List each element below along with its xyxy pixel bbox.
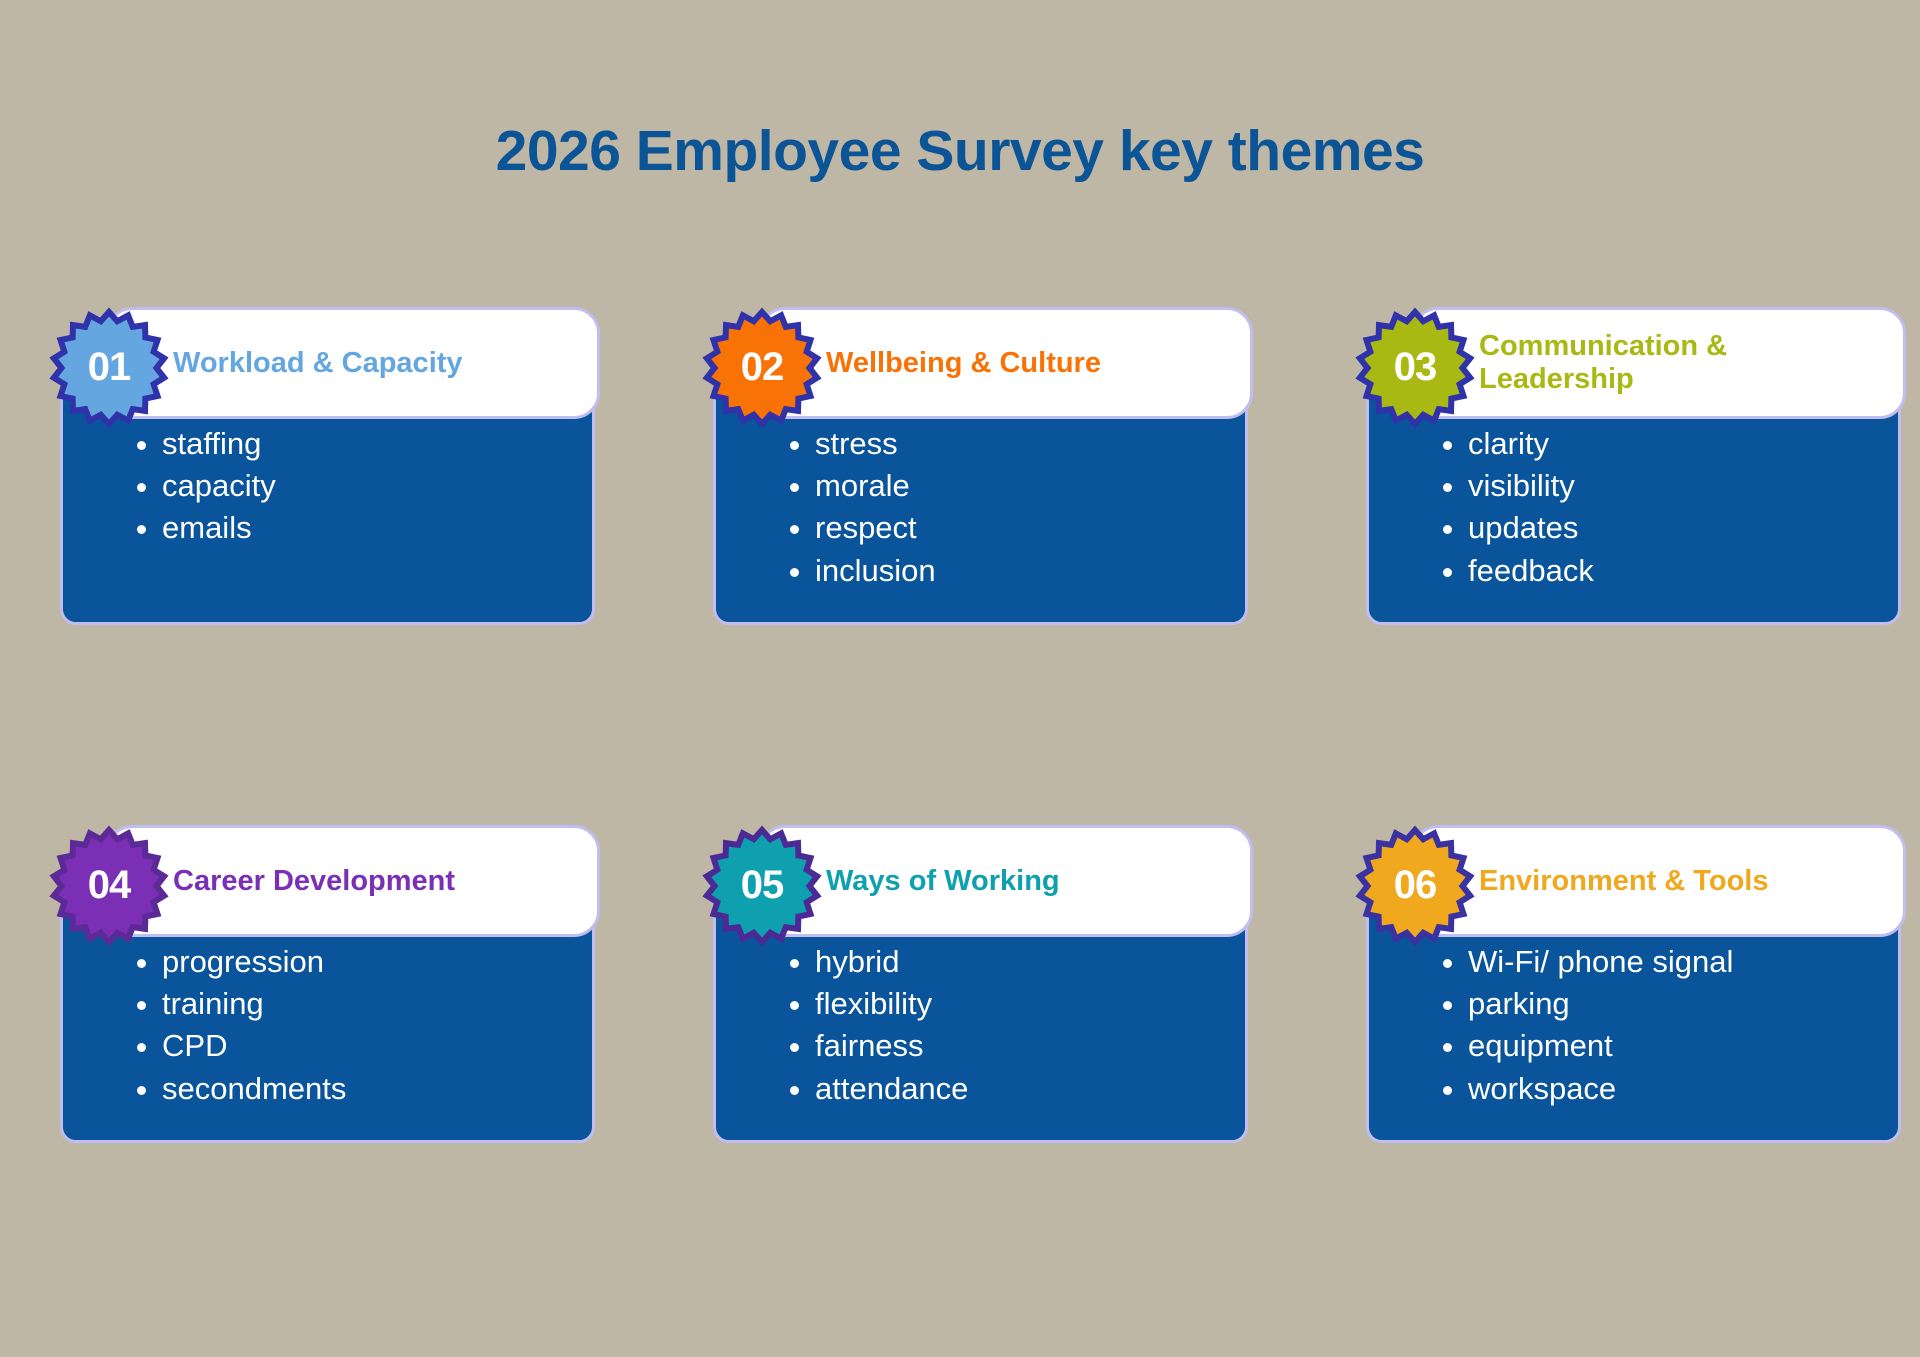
list-item: stress bbox=[815, 425, 936, 462]
list-item: fairness bbox=[815, 1027, 968, 1064]
list-item: clarity bbox=[1468, 425, 1594, 462]
list-item: respect bbox=[815, 509, 936, 546]
list-item: capacity bbox=[162, 467, 276, 504]
list-item: Wi-Fi/ phone signal bbox=[1468, 943, 1733, 980]
list-item: morale bbox=[815, 467, 936, 504]
theme-card[interactable]: progressiontrainingCPDsecondmentsCareer … bbox=[50, 807, 605, 1179]
theme-keyword-list: clarityvisibilityupdatesfeedback bbox=[1444, 425, 1594, 594]
theme-keyword-list: stressmoralerespectinclusion bbox=[791, 425, 936, 594]
list-item: equipment bbox=[1468, 1027, 1733, 1064]
starburst-badge-icon: 03 bbox=[1356, 309, 1474, 427]
badge-number: 04 bbox=[50, 827, 168, 945]
list-item: updates bbox=[1468, 509, 1594, 546]
theme-card-header: Environment & Tools bbox=[1412, 825, 1906, 937]
theme-keyword-list: staffingcapacityemails bbox=[138, 425, 276, 552]
list-item: training bbox=[162, 985, 346, 1022]
list-item: emails bbox=[162, 509, 276, 546]
page-title: 2026 Employee Survey key themes bbox=[0, 118, 1920, 184]
theme-keyword-list: hybridflexibilityfairnessattendance bbox=[791, 943, 968, 1112]
list-item: hybrid bbox=[815, 943, 968, 980]
theme-card[interactable]: staffingcapacityemailsWorkload & Capacit… bbox=[50, 307, 605, 679]
starburst-badge-icon: 04 bbox=[50, 827, 168, 945]
theme-card[interactable]: clarityvisibilityupdatesfeedbackCommunic… bbox=[1356, 307, 1911, 679]
themes-grid: staffingcapacityemailsWorkload & Capacit… bbox=[50, 307, 1880, 1179]
theme-card-header: Communication & Leadership bbox=[1412, 307, 1906, 419]
badge-number: 05 bbox=[703, 827, 821, 945]
theme-card-header: Ways of Working bbox=[759, 825, 1253, 937]
theme-card[interactable]: hybridflexibilityfairnessattendanceWays … bbox=[703, 807, 1258, 1179]
theme-card[interactable]: Wi-Fi/ phone signalparkingequipmentworks… bbox=[1356, 807, 1911, 1179]
list-item: workspace bbox=[1468, 1070, 1733, 1107]
theme-card-header: Wellbeing & Culture bbox=[759, 307, 1253, 419]
theme-title: Communication & Leadership bbox=[1415, 330, 1903, 396]
badge-number: 01 bbox=[50, 309, 168, 427]
list-item: CPD bbox=[162, 1027, 346, 1064]
starburst-badge-icon: 05 bbox=[703, 827, 821, 945]
starburst-badge-icon: 06 bbox=[1356, 827, 1474, 945]
theme-card[interactable]: stressmoralerespectinclusionWellbeing & … bbox=[703, 307, 1258, 679]
list-item: feedback bbox=[1468, 552, 1594, 589]
badge-number: 02 bbox=[703, 309, 821, 427]
list-item: flexibility bbox=[815, 985, 968, 1022]
theme-keyword-list: progressiontrainingCPDsecondments bbox=[138, 943, 346, 1112]
list-item: parking bbox=[1468, 985, 1733, 1022]
starburst-badge-icon: 01 bbox=[50, 309, 168, 427]
list-item: attendance bbox=[815, 1070, 968, 1107]
list-item: secondments bbox=[162, 1070, 346, 1107]
list-item: inclusion bbox=[815, 552, 936, 589]
theme-card-header: Career Development bbox=[106, 825, 600, 937]
theme-card-header: Workload & Capacity bbox=[106, 307, 600, 419]
starburst-badge-icon: 02 bbox=[703, 309, 821, 427]
list-item: staffing bbox=[162, 425, 276, 462]
badge-number: 03 bbox=[1356, 309, 1474, 427]
list-item: visibility bbox=[1468, 467, 1594, 504]
theme-keyword-list: Wi-Fi/ phone signalparkingequipmentworks… bbox=[1444, 943, 1733, 1112]
badge-number: 06 bbox=[1356, 827, 1474, 945]
list-item: progression bbox=[162, 943, 346, 980]
